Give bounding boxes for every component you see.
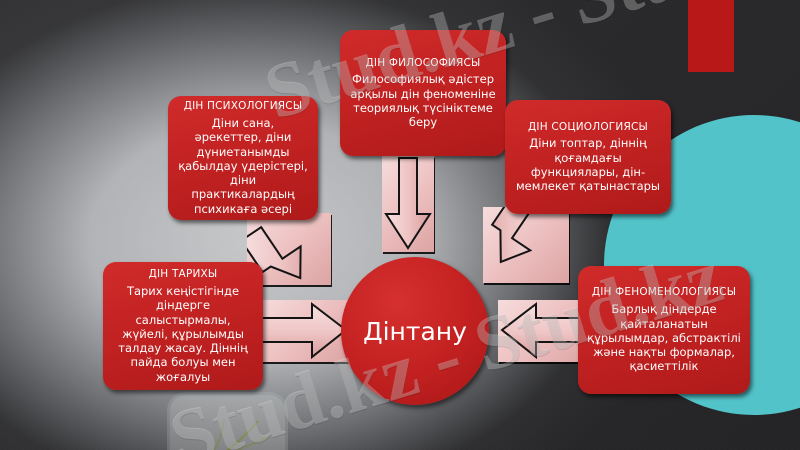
slide-canvas: ДІН ПСИХОЛОГИЯСЫ Діни сана, әрекеттер, д… bbox=[0, 0, 800, 450]
node-body-history: Тарих кеңістігінде діндерге салыстырмалы… bbox=[112, 284, 254, 384]
node-box-psychology[interactable]: ДІН ПСИХОЛОГИЯСЫ Діни сана, әрекеттер, д… bbox=[168, 96, 318, 220]
red-rectangle-decoration bbox=[688, 0, 734, 72]
node-title-philosophy: ДІН ФИЛОСОФИЯСЫ bbox=[366, 57, 481, 70]
node-body-phenomenology: Барлық діндерде қайталанатын құрылымдар,… bbox=[587, 302, 741, 373]
node-title-history: ДІН ТАРИХЫ bbox=[149, 268, 218, 281]
node-box-phenomenology[interactable]: ДІН ФЕНОМЕНОЛОГИЯСЫ Барлық діндерде қайт… bbox=[578, 266, 750, 394]
arrow-phenomenology-to-center bbox=[498, 300, 590, 362]
node-body-psychology: Діни сана, әрекеттер, діни дүниетанымды … bbox=[177, 116, 309, 216]
leaf-graphic-decoration bbox=[170, 395, 285, 450]
node-box-philosophy[interactable]: ДІН ФИЛОСОФИЯСЫ Философиялық әдістер арқ… bbox=[340, 30, 506, 156]
node-body-sociology: Діни топтар, діннің қоғамдағы функциялар… bbox=[514, 136, 662, 193]
node-title-phenomenology: ДІН ФЕНОМЕНОЛОГИЯСЫ bbox=[592, 286, 736, 299]
arrow-history-to-center bbox=[258, 300, 350, 362]
center-node-religious-studies[interactable]: Дінтану bbox=[341, 257, 489, 405]
node-box-history[interactable]: ДІН ТАРИХЫ Тарих кеңістігінде діндерге с… bbox=[103, 262, 263, 390]
node-title-psychology: ДІН ПСИХОЛОГИЯСЫ bbox=[184, 100, 303, 113]
node-title-sociology: ДІН СОЦИОЛОГИЯСЫ bbox=[528, 121, 648, 134]
arrow-philosophy-to-center bbox=[382, 156, 434, 252]
center-node-label: Дінтану bbox=[363, 319, 467, 344]
arrow-sociology-to-center bbox=[483, 207, 569, 283]
node-box-sociology[interactable]: ДІН СОЦИОЛОГИЯСЫ Діни топтар, діннің қоғ… bbox=[505, 100, 671, 214]
node-body-philosophy: Философиялық әдістер арқылы дін феномені… bbox=[349, 72, 497, 129]
